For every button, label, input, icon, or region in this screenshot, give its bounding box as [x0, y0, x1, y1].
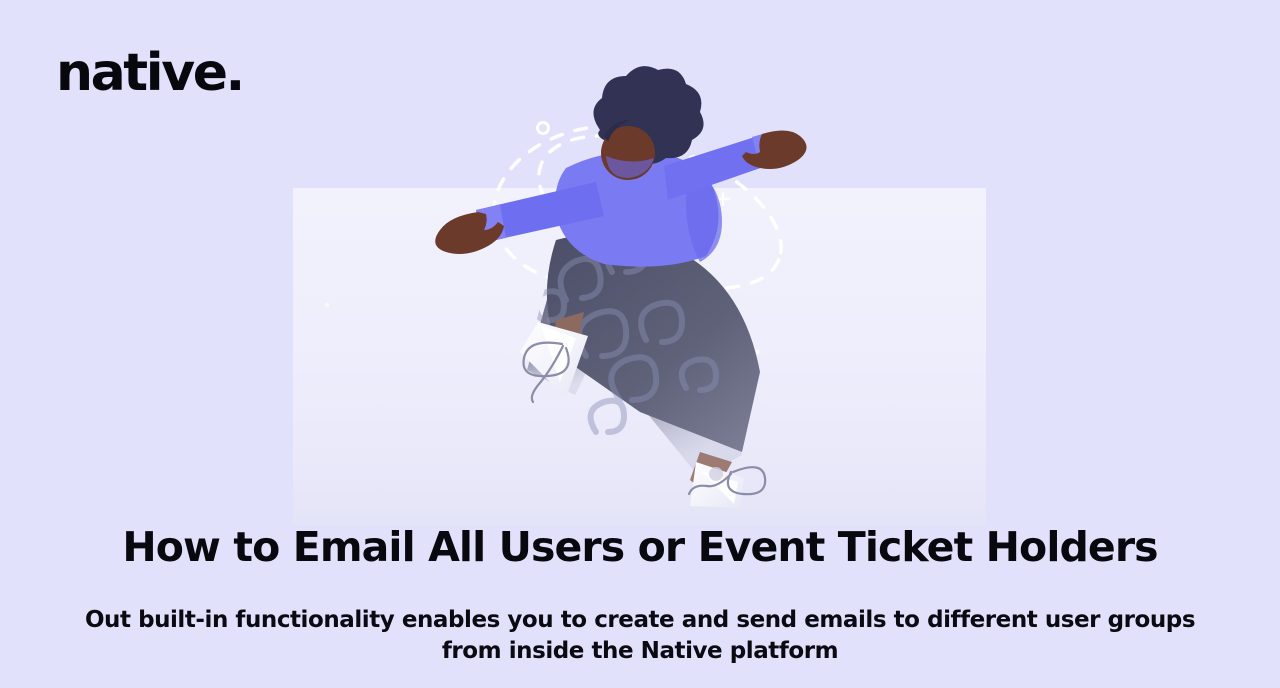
hair [593, 66, 703, 164]
hair-front-shade [604, 120, 630, 142]
page-subtitle: Out built-in functionality enables you t… [73, 605, 1208, 667]
hero-slide: native. [0, 0, 1280, 688]
page-title: How to Email All Users or Event Ticket H… [0, 516, 1280, 578]
hero-backdrop-panel [293, 188, 986, 525]
collar [606, 156, 654, 178]
cuff-right [752, 133, 774, 167]
small-ring-decoration [538, 123, 549, 134]
hand-right [742, 130, 807, 169]
brand-logo[interactable]: native. [56, 47, 243, 99]
face [601, 126, 655, 180]
page-subtitle-line-1: Out built-in functionality enables you t… [85, 607, 1100, 633]
